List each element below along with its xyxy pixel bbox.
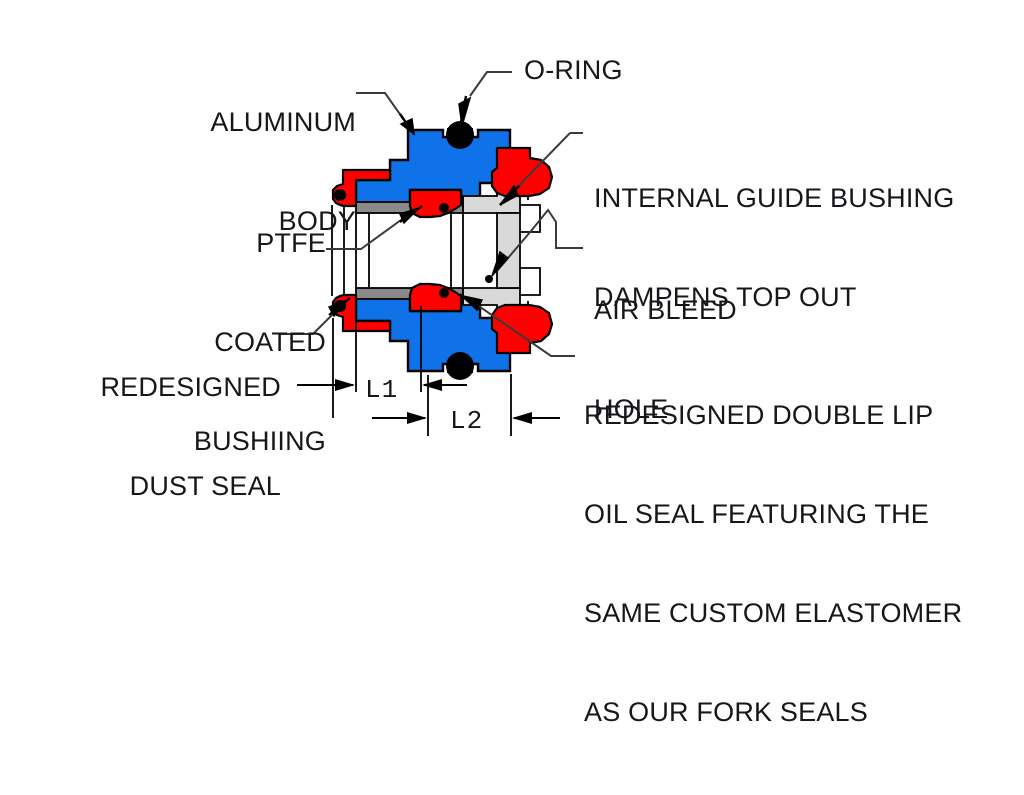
label-redesigned-double-lip-oil-seal: REDESIGNED DOUBLE LIP OIL SEAL FEATURING… (584, 333, 962, 795)
internal-guide-bushing-web (497, 213, 520, 288)
leader-o-ring (459, 72, 512, 127)
o-ring-bottom (446, 352, 474, 380)
label-internal-guide-line1: INTERNAL GUIDE BUSHING (594, 182, 954, 215)
label-oil-seal-line1: REDESIGNED DOUBLE LIP (584, 399, 962, 432)
oil-seal-outer-bulb-upper (492, 148, 552, 196)
label-oil-seal-line2: OIL SEAL FEATURING THE (584, 498, 962, 531)
label-oil-seal-line3: SAME CUSTOM ELASTOMER (584, 597, 962, 630)
label-dust-seal-line1: REDESIGNED (0, 371, 281, 404)
dimension-label-l2: L2 (450, 406, 483, 436)
label-oil-seal-line4: AS OUR FORK SEALS (584, 696, 962, 729)
label-dust-seal-line2: DUST SEAL (0, 470, 281, 503)
label-o-ring: O-RING (524, 54, 623, 87)
label-air-bleed-line1: AIR BLEED (594, 294, 737, 327)
diagram-canvas: ALUMINUM BODY O-RING INTERNAL GUIDE BUSH… (0, 0, 1024, 539)
label-ptfe: PTFE (20, 227, 326, 260)
label-redesigned-dust-seal: REDESIGNED DUST SEAL (0, 305, 281, 569)
leader-aluminum-body (356, 93, 414, 134)
label-aluminum-body-line1: ALUMINUM (40, 106, 356, 139)
dimension-label-l1: L1 (365, 375, 398, 405)
oil-seal-outer-bulb-lower (492, 305, 552, 353)
